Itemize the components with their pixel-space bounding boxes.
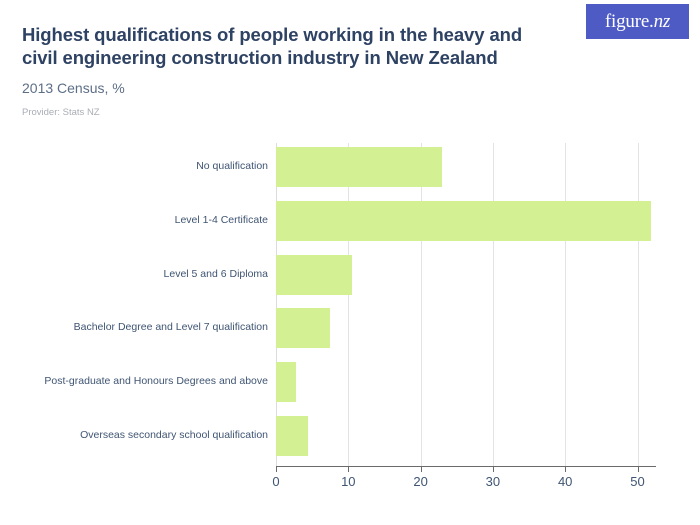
x-axis-tick-label-40: 40 — [558, 474, 572, 489]
bar[interactable] — [276, 255, 352, 295]
x-axis-tick-label-30: 30 — [486, 474, 500, 489]
chart-header: figure.nz Highest qualifications of peop… — [0, 0, 700, 132]
bar-chart: No qualificationLevel 1-4 CertificateLev… — [0, 132, 700, 525]
chart-subtitle: 2013 Census, % — [22, 80, 125, 97]
y-axis-category-label: Level 5 and 6 Diploma — [18, 268, 268, 281]
x-axis-tick-label-0: 0 — [272, 474, 279, 489]
x-axis-tick-30 — [493, 466, 494, 472]
bar[interactable] — [276, 416, 308, 456]
gridline-10 — [348, 143, 349, 466]
x-axis-tick-label-20: 20 — [413, 474, 427, 489]
page-title: Highest qualifications of people working… — [22, 23, 532, 69]
plot-area — [276, 143, 656, 466]
x-axis-tick-0 — [276, 466, 277, 472]
y-axis-category-label: No qualification — [18, 160, 268, 173]
bar[interactable] — [276, 308, 330, 348]
gridline-40 — [565, 143, 566, 466]
x-axis-line — [276, 466, 656, 467]
x-axis-tick-50 — [638, 466, 639, 472]
provider-credit: Provider: Stats NZ — [22, 106, 100, 119]
y-axis-category-label: Bachelor Degree and Level 7 qualificatio… — [18, 321, 268, 334]
bar[interactable] — [276, 362, 296, 402]
y-axis-category-labels: No qualificationLevel 1-4 CertificateLev… — [10, 143, 268, 466]
y-axis-category-label: Post-graduate and Honours Degrees and ab… — [18, 375, 268, 388]
logo-text: figure.nz — [605, 12, 670, 31]
x-axis-tick-40 — [565, 466, 566, 472]
bar[interactable] — [276, 147, 442, 187]
gridline-30 — [493, 143, 494, 466]
bar[interactable] — [276, 201, 651, 241]
figurenz-logo[interactable]: figure.nz — [586, 4, 689, 39]
logo-main-text: figure. — [605, 11, 654, 32]
x-axis-tick-label-50: 50 — [630, 474, 644, 489]
x-axis-tick-20 — [421, 466, 422, 472]
gridline-50 — [638, 143, 639, 466]
y-axis-category-label: Level 1-4 Certificate — [18, 214, 268, 227]
logo-suffix-text: nz — [654, 11, 671, 32]
gridline-20 — [421, 143, 422, 466]
y-axis-category-label: Overseas secondary school qualification — [18, 429, 268, 442]
x-axis-tick-10 — [348, 466, 349, 472]
x-axis-tick-label-10: 10 — [341, 474, 355, 489]
